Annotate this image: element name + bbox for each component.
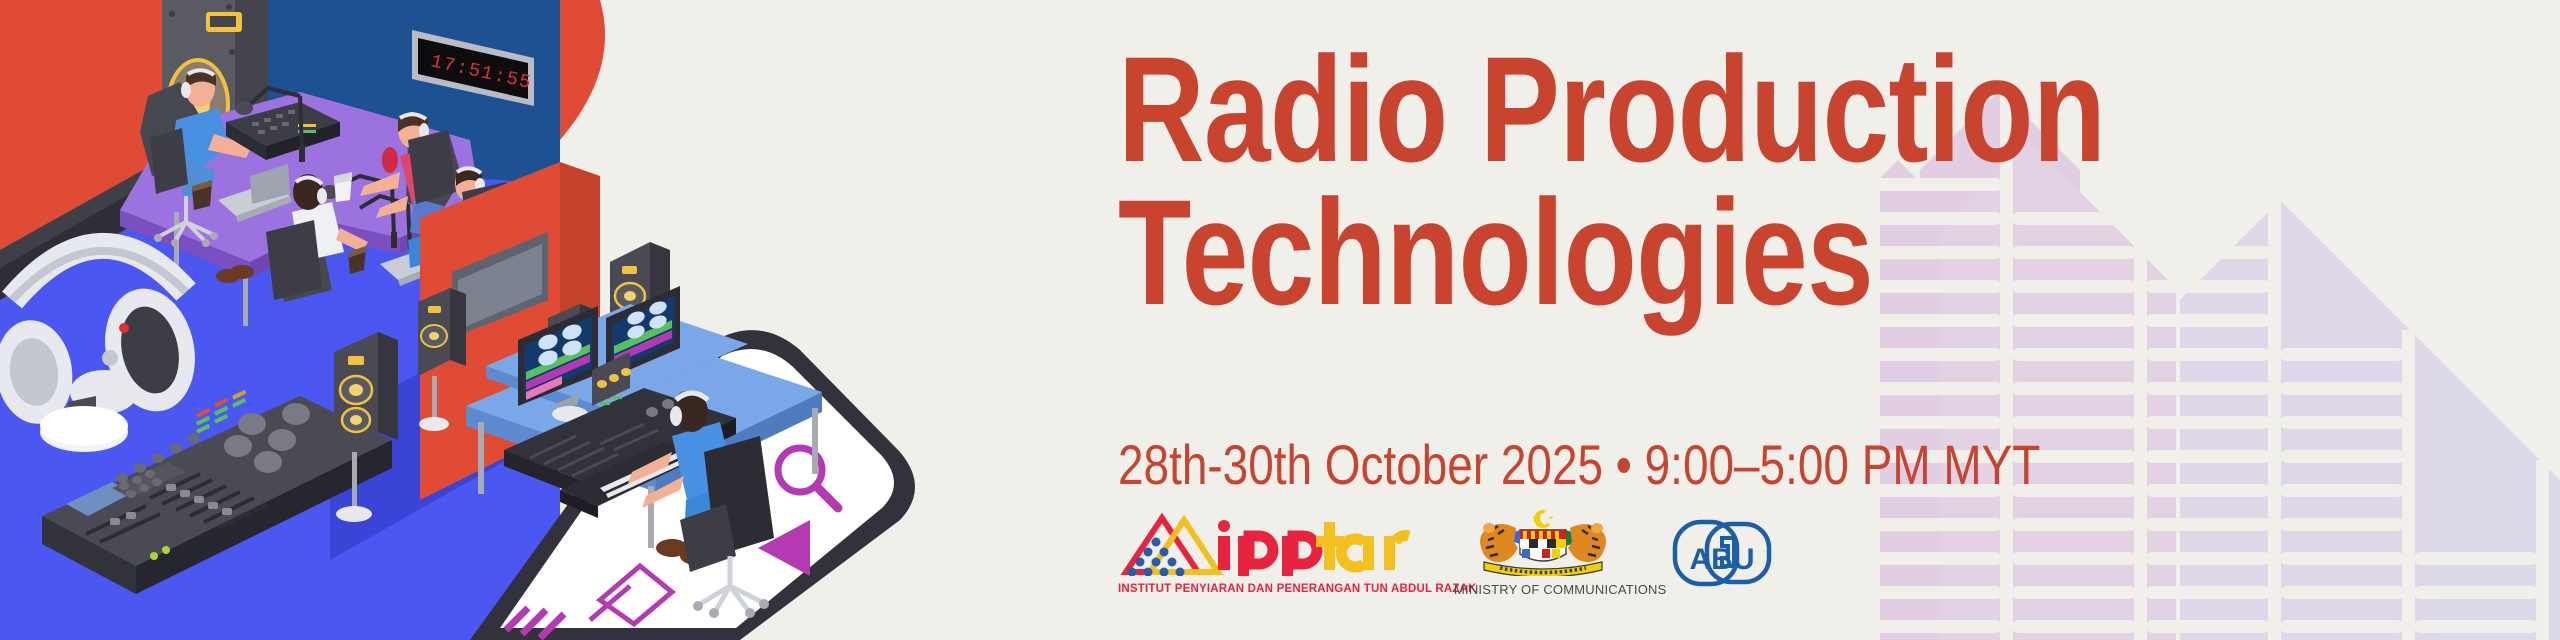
- malaysia-coat-of-arms: [1454, 508, 1632, 576]
- ministry-tagline: MINISTRY OF COMMUNICATIONS: [1454, 582, 1632, 597]
- radio-studio-illustration: 17:51:55: [0, 0, 1100, 640]
- abu-logo: ABU: [1670, 508, 1790, 599]
- event-dateline: 28th-30th October 2025 • 9:00–5:00 PM MY…: [1118, 432, 2040, 497]
- crescent-star-icon: [1533, 509, 1554, 528]
- ipptar-logo-mark: [1118, 508, 1416, 576]
- banner-content: Radio Production Technologies 28th-30th …: [1118, 0, 2118, 640]
- logo-row: INSTITUT PENYIARAN DAN PENERANGAN TUN AB…: [1118, 508, 1790, 599]
- ipptar-tagline: INSTITUT PENYIARAN DAN PENERANGAN TUN AB…: [1118, 583, 1416, 595]
- event-banner: 17:51:55: [0, 0, 2560, 640]
- radio-studio-svg: 17:51:55: [0, 0, 1100, 640]
- ipptar-logo: INSTITUT PENYIARAN DAN PENERANGAN TUN AB…: [1118, 508, 1416, 595]
- ministry-of-communications-logo: MINISTRY OF COMMUNICATIONS: [1454, 508, 1632, 597]
- abu-wordmark: ABU: [1690, 543, 1755, 576]
- abu-logo-mark: ABU: [1670, 514, 1774, 594]
- ipptar-wordmark: [1218, 520, 1409, 576]
- title-line-2: Technologies: [1118, 181, 1950, 324]
- page-title: Radio Production Technologies: [1118, 38, 1950, 323]
